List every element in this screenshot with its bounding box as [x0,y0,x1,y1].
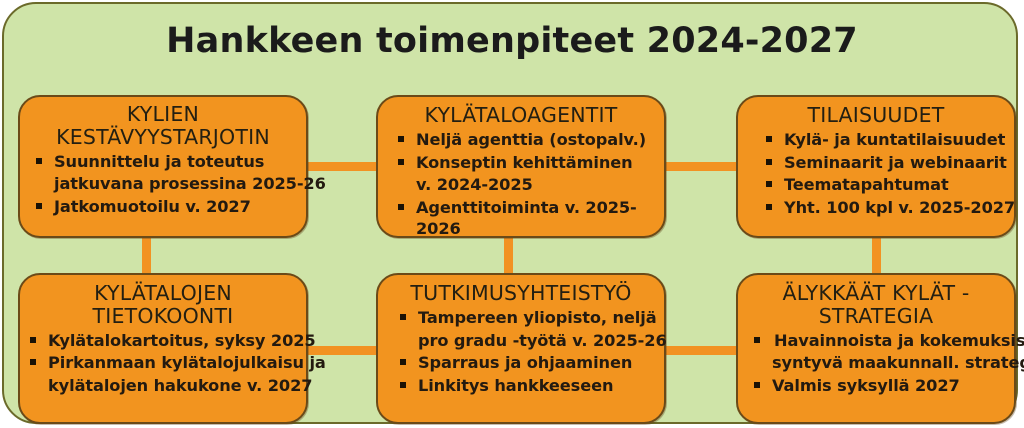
page-title: Hankkeen toimenpiteet 2024-2027 [4,21,1020,61]
box-1-heading: KYLIEN KESTÄVYYSTARJOTIN [20,97,306,149]
list-item: Tampereen yliopisto, neljä [398,307,656,329]
box-kylien-kestavyystarjotin[interactable]: KYLIEN KESTÄVYYSTARJOTIN Suunnittelu ja … [18,95,308,238]
box-4-heading: KYLÄTALOJEN TIETOKOONTI [20,275,306,328]
box-6-heading-line1: ÄLYKKÄÄT KYLÄT - [782,281,969,305]
box-3-list: Kylä- ja kuntatilaisuudet Seminaarit ja … [738,129,1014,218]
box-alykkaat-kylat-strategia[interactable]: ÄLYKKÄÄT KYLÄT - STRATEGIA Havainnoista … [736,273,1016,424]
box-kylatalojen-tietokoonti[interactable]: KYLÄTALOJEN TIETOKOONTI Kylätalokartoitu… [18,273,308,424]
list-item: Seminaarit ja webinaarit [764,152,1006,174]
box-6-list: Havainnoista ja kokemuksista syntyvä maa… [738,330,1014,397]
box-5-heading: TUTKIMUSYHTEISTYÖ [378,275,664,305]
box-5-list: Tampereen yliopisto, neljä pro gradu -ty… [378,307,664,396]
box-1-heading-line1: KYLIEN [127,102,199,126]
list-item-continuation: kylätalojen hakukone v. 2027 [28,375,298,397]
box-2-list: Neljä agenttia (ostopalv.) Konseptin keh… [378,129,664,240]
box-3-heading: TILAISUUDET [738,97,1014,127]
list-item: Suunnittelu ja toteutus [34,151,298,173]
list-item-continuation: v. 2024-2025 [396,174,656,196]
box-1-list: Suunnittelu ja toteutus jatkuvana proses… [20,151,306,218]
box-2-heading: KYLÄTALOAGENTIT [378,97,664,127]
box-4-heading-line1: KYLÄTALOJEN [94,281,232,305]
list-item: Linkitys hankkeeseen [398,375,656,397]
list-item: Valmis syksyllä 2027 [752,375,1006,397]
list-item: Kylä- ja kuntatilaisuudet [764,129,1006,151]
list-item: Kylätalokartoitus, syksy 2025 [28,330,298,352]
list-item: Havainnoista ja kokemuksista [752,330,1006,352]
box-6-heading-line2: STRATEGIA [819,304,934,328]
list-item-continuation: syntyvä maakunnall. strategia [752,352,1006,374]
connector-top-left-to-middle [300,162,384,171]
box-4-list: Kylätalokartoitus, syksy 2025 Pirkanmaan… [20,330,306,397]
connector-top-middle-to-right [658,162,744,171]
list-item: Konseptin kehittäminen [396,152,656,174]
list-item: Teematapahtumat [764,174,1006,196]
list-item: Neljä agenttia (ostopalv.) [396,129,656,151]
connector-bottom-middle-to-right [658,346,744,355]
list-item: Sparraus ja ohjaaminen [398,352,656,374]
box-kylataloagentit[interactable]: KYLÄTALOAGENTIT Neljä agenttia (ostopalv… [376,95,666,238]
box-6-heading: ÄLYKKÄÄT KYLÄT - STRATEGIA [738,275,1014,328]
list-item: Jatkomuotoilu v. 2027 [34,196,298,218]
list-item-continuation: jatkuvana prosessina 2025-26 [34,173,298,195]
outer-panel: Hankkeen toimenpiteet 2024-2027 KYLIEN K… [2,2,1018,424]
box-tilaisuudet[interactable]: TILAISUUDET Kylä- ja kuntatilaisuudet Se… [736,95,1016,238]
diagram-canvas: Hankkeen toimenpiteet 2024-2027 KYLIEN K… [0,0,1024,428]
box-tutkimusyhteistyo[interactable]: TUTKIMUSYHTEISTYÖ Tampereen yliopisto, n… [376,273,666,424]
list-item: Yht. 100 kpl v. 2025-2027 [764,197,1006,219]
box-4-heading-line2: TIETOKOONTI [93,304,234,328]
list-item: Agenttitoiminta v. 2025-2026 [396,197,656,240]
list-item-continuation: pro gradu -työtä v. 2025-26 [398,330,656,352]
list-item: Pirkanmaan kylätalojulkaisu ja [28,352,298,374]
box-1-heading-line2: KESTÄVYYSTARJOTIN [56,125,270,149]
